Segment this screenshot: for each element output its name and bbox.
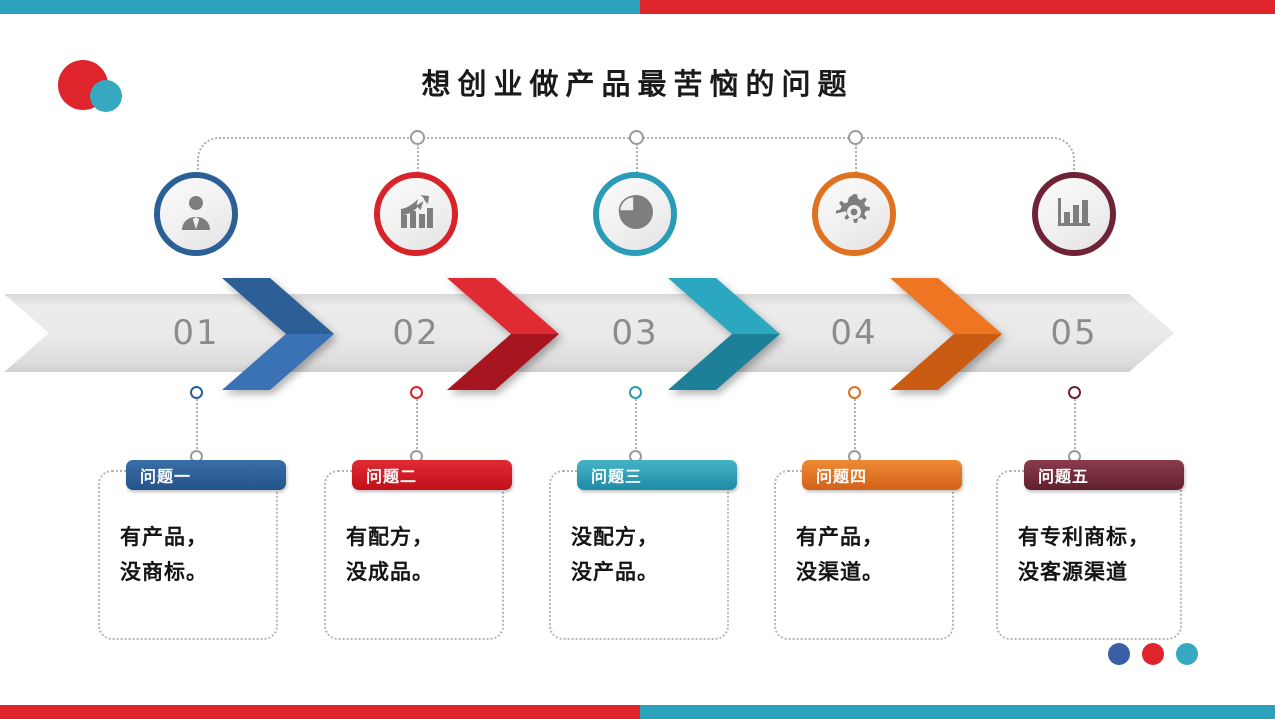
bottom-rail-right-segment [640,705,1275,719]
step-connector-03 [635,399,637,449]
problem-card-body-03: 没配方，没产品。 [571,520,719,589]
pie-chart-icon [615,192,655,236]
slide-canvas: 想创业做产品最苦恼的问题 0102030405 问题一有产品，没商标。问题二有配… [0,0,1275,719]
problem-card-line: 有配方， [346,520,494,555]
step-icon-04[interactable] [818,178,890,250]
problem-card-line: 没商标。 [120,555,268,590]
problem-card-02[interactable]: 问题二有配方，没成品。 [324,470,504,640]
chevron-bottom-half [447,334,559,390]
top-rail [0,0,1275,14]
step-number-05: 05 [1029,313,1119,353]
bus-node-3 [848,130,863,145]
top-rail-left-segment [0,0,640,14]
step-marker-05 [1068,386,1081,399]
step-icon-02[interactable] [380,178,452,250]
step-marker-04 [848,386,861,399]
step-number-03: 03 [590,313,680,353]
gear-icon [834,192,874,236]
footer-dot-teal [1176,643,1198,665]
step-connector-01 [196,399,198,449]
step-icon-01[interactable] [160,178,232,250]
bar-chart-axis-icon [1055,193,1093,235]
problem-card-body-01: 有产品，没商标。 [120,520,268,589]
problem-card-header-04: 问题四 [802,460,962,490]
problem-card-04[interactable]: 问题四有产品，没渠道。 [774,470,954,640]
bar-chart-arrow-icon [397,193,435,235]
problem-card-body-04: 有产品，没渠道。 [796,520,944,589]
chevron-4 [890,278,1002,390]
chevron-bottom-half [668,334,780,390]
problem-card-header-05: 问题五 [1024,460,1184,490]
footer-dot-blue [1108,643,1130,665]
chevron-1 [222,278,334,390]
chevron-top-half [890,278,1002,334]
step-connector-02 [416,399,418,449]
problem-card-line: 有专利商标， [1018,520,1172,555]
problem-card-header-01: 问题一 [126,460,286,490]
page-title: 想创业做产品最苦恼的问题 [0,61,1275,103]
problem-card-line: 有产品， [120,520,268,555]
bus-node-2 [629,130,644,145]
problem-card-line: 没产品。 [571,555,719,590]
step-marker-02 [410,386,423,399]
chevron-bottom-half [890,334,1002,390]
step-icon-05[interactable] [1038,178,1110,250]
problem-card-line: 没渠道。 [796,555,944,590]
problem-card-03[interactable]: 问题三没配方，没产品。 [549,470,729,640]
problem-card-header-03: 问题三 [577,460,737,490]
top-rail-right-segment [640,0,1275,14]
chevron-top-half [222,278,334,334]
footer-dot-red [1142,643,1164,665]
problem-card-body-02: 有配方，没成品。 [346,520,494,589]
step-marker-03 [629,386,642,399]
footer-dots [1108,643,1198,665]
step-icon-03[interactable] [599,178,671,250]
step-connector-04 [854,399,856,449]
chevron-top-half [668,278,780,334]
bottom-rail [0,705,1275,719]
problem-card-line: 没成品。 [346,555,494,590]
step-number-04: 04 [809,313,899,353]
problem-card-line: 有产品， [796,520,944,555]
chevron-top-half [447,278,559,334]
bottom-rail-left-segment [0,705,640,719]
step-connector-05 [1074,399,1076,449]
chevron-bottom-half [222,334,334,390]
problem-card-header-02: 问题二 [352,460,512,490]
chevron-2 [447,278,559,390]
step-marker-01 [190,386,203,399]
problem-card-line: 没客源渠道 [1018,555,1172,590]
problem-card-line: 没配方， [571,520,719,555]
problem-card-body-05: 有专利商标，没客源渠道 [1018,520,1172,589]
businessman-icon [176,192,216,236]
problem-card-05[interactable]: 问题五有专利商标，没客源渠道 [996,470,1182,640]
problem-card-01[interactable]: 问题一有产品，没商标。 [98,470,278,640]
chevron-3 [668,278,780,390]
bus-node-1 [410,130,425,145]
